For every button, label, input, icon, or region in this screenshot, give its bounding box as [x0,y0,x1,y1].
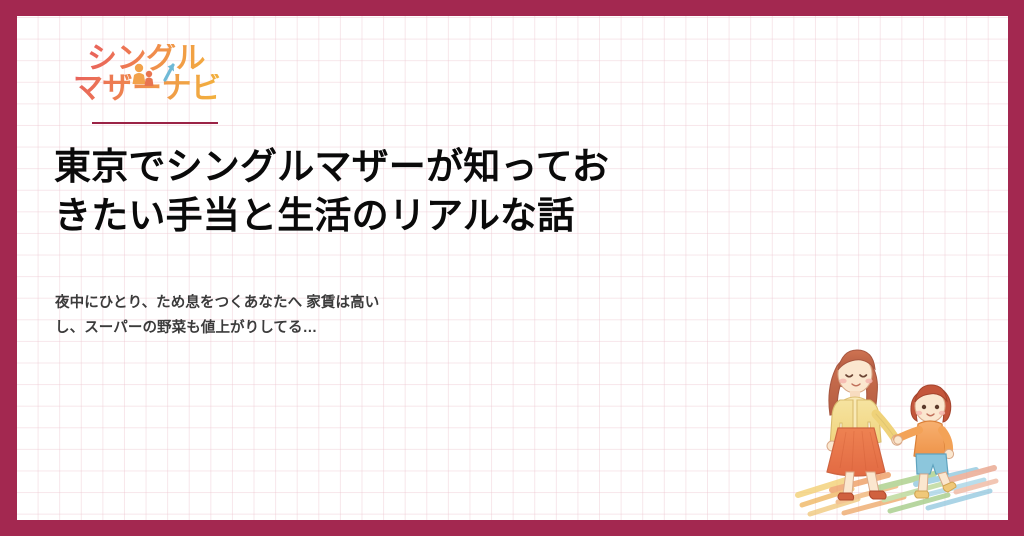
mother-and-child-walking-illustration [792,330,1000,520]
logo-line-1: シングル [87,44,205,74]
logo-wordmark: シングル マザーナビ [73,30,243,112]
page-title-line-2: きたい手当と生活のリアルな話 [54,192,754,241]
logo-line-2: マザーナビ [73,74,221,104]
page-title-line-1: 東京でシングルマザーが知ってお [54,143,754,192]
site-logo[interactable]: シングル マザーナビ [73,30,243,134]
article-excerpt: 夜中にひとり、ため息をつくあなたへ 家賃は高い し、スーパーの野菜も値上がりして… [55,291,575,341]
ogp-card-frame: シングル マザーナビ 東京でシングルマザーが知ってお [0,0,1024,536]
logo-underline-rule [92,122,218,124]
grid-paper-canvas: シングル マザーナビ 東京でシングルマザーが知ってお [17,16,1008,520]
article-excerpt-line-1: 夜中にひとり、ため息をつくあなたへ 家賃は高い [55,291,575,316]
article-excerpt-line-2: し、スーパーの野菜も値上がりしてる… [55,316,575,341]
mother-figure [827,350,902,500]
page-title: 東京でシングルマザーが知ってお きたい手当と生活のリアルな話 [54,143,754,241]
